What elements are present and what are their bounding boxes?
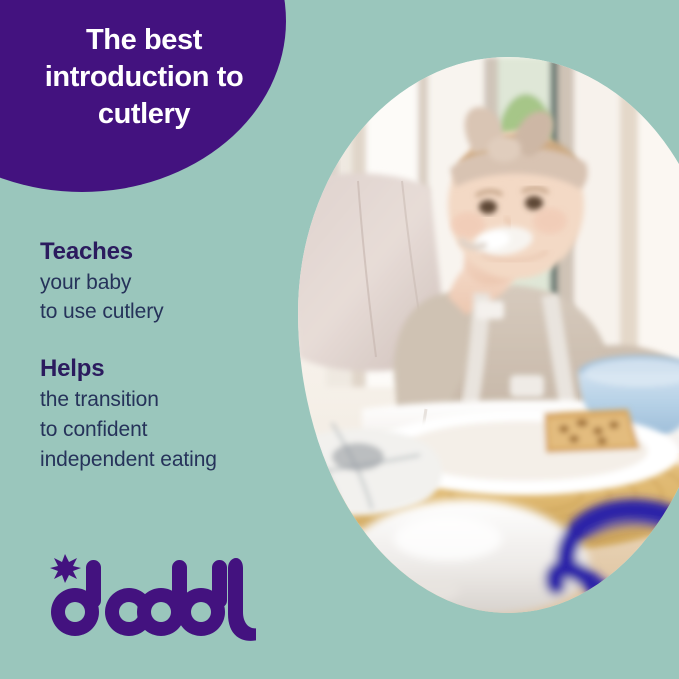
logo-letter-l	[228, 558, 256, 641]
feature-helps-body: the transition to confident independent …	[40, 385, 310, 474]
feature-teaches: Teaches your baby to use cutlery	[40, 236, 310, 327]
feature-teaches-body-line-2: to use cutlery	[40, 297, 310, 327]
feature-list: Teaches your baby to use cutlery Helps t…	[40, 236, 310, 500]
product-lifestyle-photo	[298, 57, 679, 613]
feature-helps: Helps the transition to confident indepe…	[40, 353, 310, 474]
feature-teaches-body-line-1: your baby	[40, 268, 310, 298]
feature-helps-body-line-2: to confident	[40, 415, 310, 445]
headline: The best introduction to cutlery	[20, 22, 268, 132]
logo-letter-d-2	[137, 560, 187, 636]
feature-helps-body-line-3: independent eating	[40, 445, 310, 475]
doddl-logo	[36, 548, 256, 648]
headline-line-2: introduction to	[20, 59, 268, 96]
feature-teaches-title: Teaches	[40, 236, 310, 268]
feature-helps-body-line-1: the transition	[40, 385, 310, 415]
headline-line-3: cutlery	[20, 96, 268, 133]
headline-line-1: The best	[20, 22, 268, 59]
feature-helps-title: Helps	[40, 353, 310, 385]
asterisk-icon	[50, 554, 81, 583]
promo-graphic: The best introduction to cutlery Teaches…	[0, 0, 679, 679]
feature-teaches-body: your baby to use cutlery	[40, 268, 310, 328]
